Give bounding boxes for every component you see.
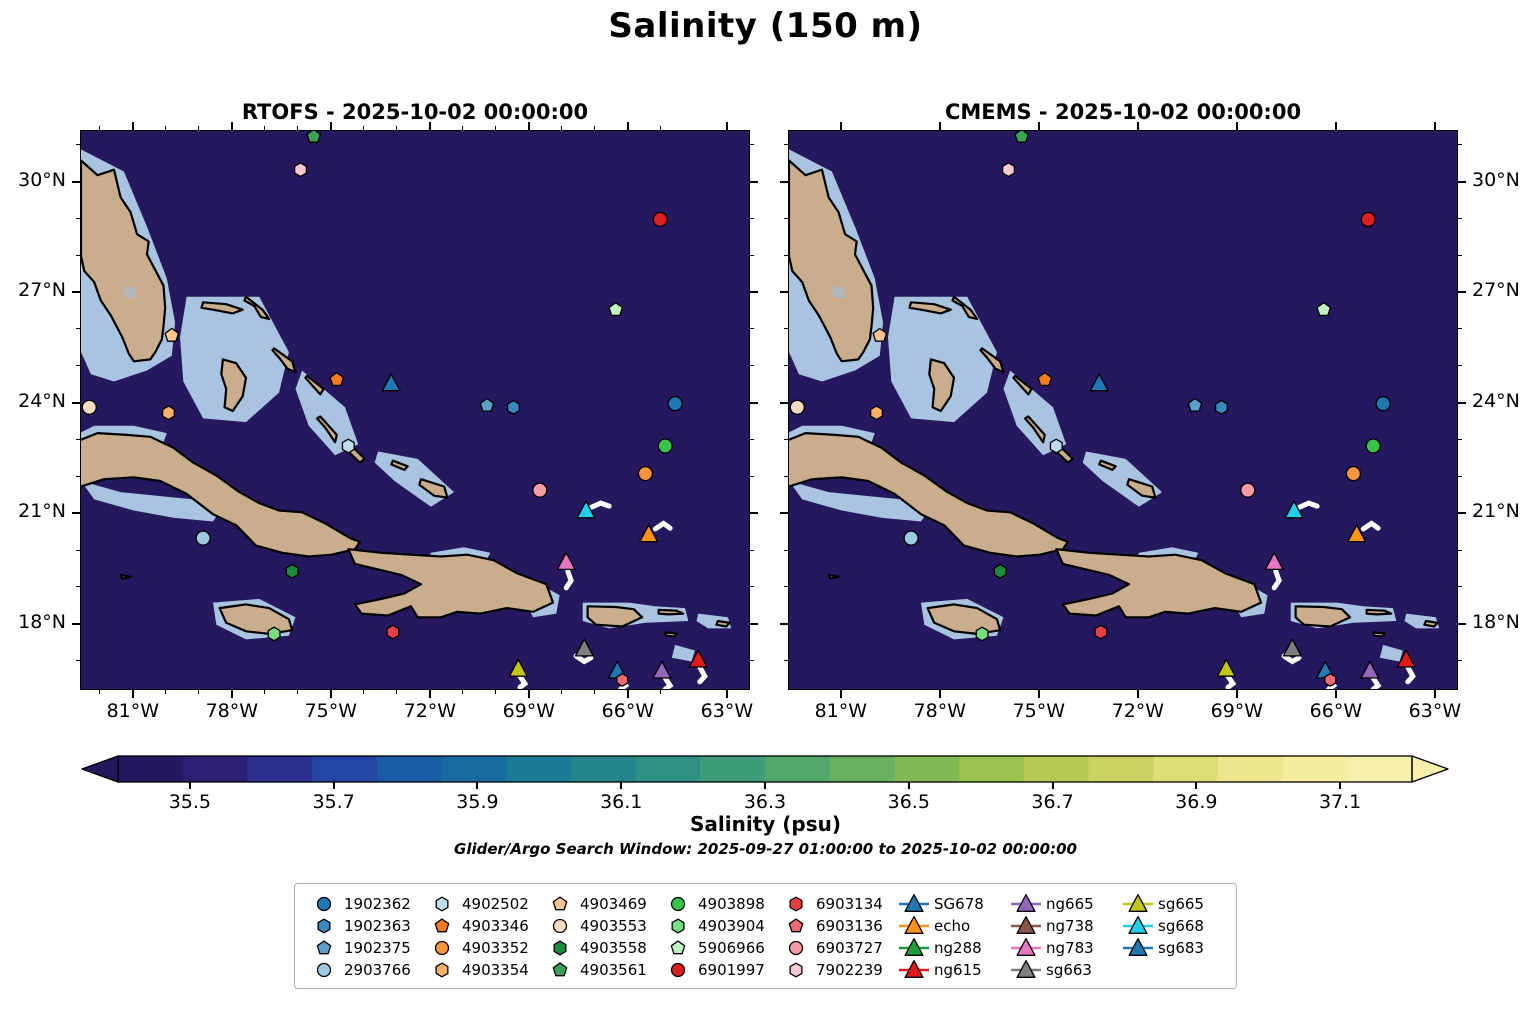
lon-tick-label-rtofs-2: 75°W <box>286 700 376 722</box>
lon-tick-label-cmems-0: 81°W <box>796 700 886 722</box>
lat-tick-label-left-1: 27°N <box>0 279 66 301</box>
legend-marker-hexagon-4903354 <box>425 959 459 981</box>
legend-entry-4903553[interactable]: 4903553 <box>543 915 647 937</box>
lon-minor-tick <box>396 126 397 130</box>
map-marker-4903354[interactable] <box>163 406 175 420</box>
lat-minor-tick <box>76 328 80 329</box>
lon-minor-tick <box>363 690 364 694</box>
lat-tickmark <box>1458 291 1466 293</box>
lat-minor-tick <box>750 328 754 329</box>
legend-marker-pentagon-4903346 <box>425 915 459 937</box>
lat-minor-tick <box>76 660 80 661</box>
lon-minor-tick <box>99 690 100 694</box>
lon-minor-tick <box>264 126 265 130</box>
lat-minor-tick <box>76 476 80 477</box>
legend-entry-sg668[interactable]: sg668 <box>1121 915 1204 937</box>
lon-tickmark <box>528 122 530 130</box>
lat-tick-label-left-3: 21°N <box>0 500 66 522</box>
lat-minor-tick <box>784 328 788 329</box>
lat-tick-label-left-2: 24°N <box>0 390 66 412</box>
lat-minor-tick <box>76 218 80 219</box>
lat-minor-tick <box>1458 328 1462 329</box>
legend-marker-circle-2903766 <box>307 959 341 981</box>
lon-tickmark <box>132 122 134 130</box>
lat-tick-label-right-3: 21°N <box>1472 500 1531 522</box>
legend-marker-triangle-ng783 <box>1009 937 1043 959</box>
lon-tickmark <box>1038 122 1040 130</box>
lon-tickmark <box>627 690 629 698</box>
lon-tickmark <box>330 690 332 698</box>
legend-label: ng738 <box>1043 917 1094 935</box>
colorbar-axis-label: Salinity (psu) <box>0 812 1531 836</box>
legend-label: sg663 <box>1043 961 1092 979</box>
lat-minor-tick <box>1458 144 1462 145</box>
lon-tickmark <box>429 690 431 698</box>
lon-tick-label-rtofs-3: 72°W <box>385 700 475 722</box>
lon-minor-tick <box>297 690 298 694</box>
legend-entry-4903354[interactable]: 4903354 <box>425 959 529 981</box>
legend-label: 4903904 <box>695 917 765 935</box>
lon-tick-label-cmems-5: 66°W <box>1291 700 1381 722</box>
legend-entry-6903727[interactable]: 6903727 <box>779 937 883 959</box>
map-marker-6901997[interactable] <box>653 212 667 226</box>
lat-minor-tick <box>750 144 754 145</box>
colorbar-tickmark <box>764 782 766 789</box>
colorbar-tickmark <box>908 782 910 789</box>
legend-marker-pentagon-1902375 <box>307 937 341 959</box>
legend-marker-triangle-ng738 <box>1009 915 1043 937</box>
legend-label: echo <box>931 917 970 935</box>
map-marker-4903561[interactable] <box>1015 131 1028 142</box>
lat-minor-tick <box>750 439 754 440</box>
lat-tickmark <box>750 181 758 183</box>
legend-label: ng615 <box>931 961 982 979</box>
lat-minor-tick <box>750 586 754 587</box>
legend-marker-triangle-sg665 <box>1121 893 1155 915</box>
legend-label: 1902362 <box>341 895 411 913</box>
colorbar-tickmark <box>1195 782 1197 789</box>
lon-tick-label-rtofs-5: 66°W <box>583 700 673 722</box>
lon-tickmark <box>1434 122 1436 130</box>
lat-tickmark <box>72 623 80 625</box>
lat-tickmark <box>780 623 788 625</box>
lon-tick-label-cmems-4: 69°W <box>1192 700 1282 722</box>
legend-marker-triangle-ng615 <box>897 959 931 981</box>
legend-label: 6901997 <box>695 961 765 979</box>
map-marker-7902239[interactable] <box>295 163 307 177</box>
colorbar-tick-label-5: 36.5 <box>859 791 959 813</box>
legend-label: 4903469 <box>577 895 647 913</box>
map-marker-1902363[interactable] <box>1216 401 1228 415</box>
lat-minor-tick <box>784 476 788 477</box>
legend-label: 4903558 <box>577 939 647 957</box>
lat-minor-tick <box>1458 660 1462 661</box>
lon-tick-label-rtofs-0: 81°W <box>88 700 178 722</box>
map-marker-4903352[interactable] <box>1346 467 1360 481</box>
legend-label: 6903136 <box>813 917 883 935</box>
lon-tickmark <box>726 690 728 698</box>
lon-tickmark <box>132 690 134 698</box>
lat-tickmark <box>1458 623 1466 625</box>
legend-label: 4903354 <box>459 961 529 979</box>
lon-tickmark <box>1335 122 1337 130</box>
map-marker-4903558[interactable] <box>286 565 298 579</box>
lon-tickmark <box>1137 122 1139 130</box>
legend-marker-pentagon-6903136 <box>779 915 813 937</box>
colorbar-tickmark <box>1052 782 1054 789</box>
lat-minor-tick <box>76 550 80 551</box>
lat-minor-tick <box>750 550 754 551</box>
legend-entry-ng783[interactable]: ng783 <box>1009 937 1094 959</box>
map-marker-7902239[interactable] <box>1003 163 1015 177</box>
legend-entry-1902375[interactable]: 1902375 <box>307 937 411 959</box>
lat-tickmark <box>1458 512 1466 514</box>
map-marker-6903727[interactable] <box>533 483 547 497</box>
legend-label: 1902363 <box>341 917 411 935</box>
page-title: Salinity (150 m) <box>0 6 1531 46</box>
map-marker-4903898[interactable] <box>658 439 672 453</box>
lon-tick-label-rtofs-1: 78°W <box>187 700 277 722</box>
lat-tick-label-right-4: 18°N <box>1472 611 1531 633</box>
map-marker-6903134[interactable] <box>387 625 399 639</box>
lat-minor-tick <box>750 255 754 256</box>
lon-tick-label-cmems-2: 75°W <box>994 700 1084 722</box>
lat-tick-label-right-2: 24°N <box>1472 390 1531 412</box>
legend-entry-4903904[interactable]: 4903904 <box>661 915 765 937</box>
lat-minor-tick <box>1458 550 1462 551</box>
legend-entry-7902239[interactable]: 7902239 <box>779 959 883 981</box>
lat-tickmark <box>750 512 758 514</box>
map-marker-6903136[interactable] <box>1325 674 1336 686</box>
lon-minor-tick <box>561 126 562 130</box>
lon-tickmark <box>1038 690 1040 698</box>
legend-label: 4903352 <box>459 939 529 957</box>
lon-minor-tick <box>198 126 199 130</box>
lon-minor-tick <box>561 690 562 694</box>
legend-entry-4903346[interactable]: 4903346 <box>425 915 529 937</box>
colorbar-tickmark <box>620 782 622 789</box>
legend-marker-circle-4903553 <box>543 915 577 937</box>
legend-label: 4902502 <box>459 895 529 913</box>
lon-minor-tick <box>462 126 463 130</box>
lon-tickmark <box>939 122 941 130</box>
legend-label: 4903346 <box>459 917 529 935</box>
legend-label: sg665 <box>1155 895 1204 913</box>
map-marker-4903354[interactable] <box>871 406 883 420</box>
lat-minor-tick <box>1458 439 1462 440</box>
map-marker-4903553[interactable] <box>82 400 96 414</box>
legend-entry-ng615[interactable]: ng615 <box>897 959 982 981</box>
map-marker-4902502[interactable] <box>1050 439 1062 453</box>
legend-entry-6901997[interactable]: 6901997 <box>661 959 765 981</box>
lon-tickmark <box>840 122 842 130</box>
legend-marker-hexagon-4902502 <box>425 893 459 915</box>
legend-marker-hexagon-1902363 <box>307 915 341 937</box>
lat-tickmark <box>72 291 80 293</box>
legend-label: 1902375 <box>341 939 411 957</box>
lat-tickmark <box>72 181 80 183</box>
lon-tick-label-rtofs-4: 69°W <box>484 700 574 722</box>
legend-entry-1902362[interactable]: 1902362 <box>307 893 411 915</box>
colorbar <box>78 753 1452 785</box>
lon-minor-tick <box>660 126 661 130</box>
legend-marker-circle-6901997 <box>661 959 695 981</box>
lat-minor-tick <box>784 586 788 587</box>
lon-tickmark <box>528 690 530 698</box>
legend-marker-pentagon-4903561 <box>543 959 577 981</box>
legend-label: sg683 <box>1155 939 1204 957</box>
lat-minor-tick <box>784 365 788 366</box>
legend: 1902362190236319023752903766490250249033… <box>294 883 1237 989</box>
lon-tickmark <box>627 122 629 130</box>
colorbar-tick-label-7: 36.9 <box>1146 791 1246 813</box>
colorbar-tick-label-6: 36.7 <box>1003 791 1103 813</box>
lat-tick-label-left-4: 18°N <box>0 611 66 633</box>
map-marker-6901997[interactable] <box>1361 212 1375 226</box>
lon-minor-tick <box>363 126 364 130</box>
lat-minor-tick <box>76 365 80 366</box>
colorbar-tick-label-0: 35.5 <box>140 791 240 813</box>
legend-entry-6903136[interactable]: 6903136 <box>779 915 883 937</box>
lon-tickmark <box>231 690 233 698</box>
lat-tickmark <box>750 623 758 625</box>
legend-entry-2903766[interactable]: 2903766 <box>307 959 411 981</box>
legend-entry-ng738[interactable]: ng738 <box>1009 915 1094 937</box>
legend-marker-triangle-ng288 <box>897 937 931 959</box>
search-window-label: Glider/Argo Search Window: 2025-09-27 01… <box>0 840 1531 858</box>
lat-minor-tick <box>750 660 754 661</box>
legend-entry-1902363[interactable]: 1902363 <box>307 915 411 937</box>
lat-minor-tick <box>1458 218 1462 219</box>
lon-tickmark <box>1434 690 1436 698</box>
panel-title-rtofs: RTOFS - 2025-10-02 00:00:00 <box>80 100 750 124</box>
legend-entry-echo[interactable]: echo <box>897 915 970 937</box>
lat-minor-tick <box>1458 586 1462 587</box>
lat-tickmark <box>1458 181 1466 183</box>
lat-minor-tick <box>784 439 788 440</box>
lon-minor-tick <box>495 126 496 130</box>
panel-title-cmems: CMEMS - 2025-10-02 00:00:00 <box>788 100 1458 124</box>
lon-minor-tick <box>264 690 265 694</box>
map-marker-6903136[interactable] <box>617 674 628 686</box>
legend-entry-SG678[interactable]: SG678 <box>897 893 984 915</box>
legend-marker-hexagon-6903134 <box>779 893 813 915</box>
lon-minor-tick <box>594 126 595 130</box>
lat-tick-label-right-1: 27°N <box>1472 279 1531 301</box>
legend-marker-pentagon-4903469 <box>543 893 577 915</box>
legend-label: 2903766 <box>341 961 411 979</box>
legend-entry-4903352[interactable]: 4903352 <box>425 937 529 959</box>
lat-minor-tick <box>784 255 788 256</box>
lat-minor-tick <box>784 660 788 661</box>
legend-label: 7902239 <box>813 961 883 979</box>
legend-label: 4903561 <box>577 961 647 979</box>
lon-tickmark <box>1335 690 1337 698</box>
map-marker-4902502[interactable] <box>342 439 354 453</box>
lon-tick-label-cmems-1: 78°W <box>895 700 985 722</box>
legend-entry-ng665[interactable]: ng665 <box>1009 893 1094 915</box>
lon-tickmark <box>330 122 332 130</box>
lon-minor-tick <box>198 690 199 694</box>
lat-tickmark <box>1458 402 1466 404</box>
map-marker-4903558[interactable] <box>994 565 1006 579</box>
lat-tickmark <box>780 402 788 404</box>
lon-tick-label-rtofs-6: 63°W <box>682 700 772 722</box>
lon-minor-tick <box>396 690 397 694</box>
lon-tickmark <box>840 690 842 698</box>
map-marker-4903904[interactable] <box>976 627 988 641</box>
legend-marker-triangle-echo <box>897 915 931 937</box>
legend-marker-circle-1902362 <box>307 893 341 915</box>
map-marker-2903766[interactable] <box>196 531 210 545</box>
colorbar-tick-label-2: 35.9 <box>427 791 527 813</box>
colorbar-tickmark <box>189 782 191 789</box>
legend-label: ng288 <box>931 939 982 957</box>
lon-minor-tick <box>462 690 463 694</box>
legend-label: 5906966 <box>695 939 765 957</box>
map-marker-1902362[interactable] <box>668 397 682 411</box>
legend-marker-pentagon-5906966 <box>661 937 695 959</box>
lat-minor-tick <box>784 218 788 219</box>
map-marker-2903766[interactable] <box>904 531 918 545</box>
legend-marker-triangle-sg663 <box>1009 959 1043 981</box>
lat-tick-label-right-0: 30°N <box>1472 169 1531 191</box>
lat-minor-tick <box>784 550 788 551</box>
legend-label: 4903553 <box>577 917 647 935</box>
lon-minor-tick <box>165 690 166 694</box>
lon-tick-label-cmems-3: 72°W <box>1093 700 1183 722</box>
lat-minor-tick <box>76 586 80 587</box>
legend-entry-4903558[interactable]: 4903558 <box>543 937 647 959</box>
legend-label: ng783 <box>1043 939 1094 957</box>
legend-entry-4902502[interactable]: 4902502 <box>425 893 529 915</box>
colorbar-tickmark <box>333 782 335 789</box>
lat-minor-tick <box>76 144 80 145</box>
lat-tickmark <box>780 291 788 293</box>
colorbar-tick-label-4: 36.3 <box>715 791 815 813</box>
map-marker-4903561[interactable] <box>307 131 320 142</box>
legend-label: sg668 <box>1155 917 1204 935</box>
map-marker-4903352[interactable] <box>638 467 652 481</box>
lon-tickmark <box>429 122 431 130</box>
lon-tickmark <box>726 122 728 130</box>
lat-tickmark <box>780 181 788 183</box>
legend-entry-sg683[interactable]: sg683 <box>1121 937 1204 959</box>
lon-tick-label-cmems-6: 63°W <box>1390 700 1480 722</box>
lon-minor-tick <box>495 690 496 694</box>
legend-entry-5906966[interactable]: 5906966 <box>661 937 765 959</box>
map-marker-4903898[interactable] <box>1366 439 1380 453</box>
lat-minor-tick <box>76 439 80 440</box>
lat-minor-tick <box>750 218 754 219</box>
colorbar-tick-label-1: 35.7 <box>284 791 384 813</box>
legend-marker-triangle-ng665 <box>1009 893 1043 915</box>
legend-marker-circle-6903727 <box>779 937 813 959</box>
lat-minor-tick <box>1458 476 1462 477</box>
legend-entry-4903469[interactable]: 4903469 <box>543 893 647 915</box>
legend-entry-sg665[interactable]: sg665 <box>1121 893 1204 915</box>
lat-minor-tick <box>750 365 754 366</box>
map-panel-rtofs[interactable] <box>80 130 750 690</box>
lat-minor-tick <box>750 476 754 477</box>
lat-tick-label-left-0: 30°N <box>0 169 66 191</box>
lon-minor-tick <box>594 690 595 694</box>
legend-marker-hexagon-4903904 <box>661 915 695 937</box>
legend-marker-circle-4903898 <box>661 893 695 915</box>
colorbar-tick-label-8: 37.1 <box>1290 791 1390 813</box>
map-marker-4903553[interactable] <box>790 400 804 414</box>
lat-tickmark <box>72 402 80 404</box>
lat-minor-tick <box>76 255 80 256</box>
lon-minor-tick <box>99 126 100 130</box>
lat-minor-tick <box>1458 365 1462 366</box>
lat-minor-tick <box>784 144 788 145</box>
legend-marker-circle-4903352 <box>425 937 459 959</box>
lon-minor-tick <box>297 126 298 130</box>
colorbar-tickmark <box>1339 782 1341 789</box>
legend-entry-6903134[interactable]: 6903134 <box>779 893 883 915</box>
lon-tickmark <box>1137 690 1139 698</box>
colorbar-tickmark <box>476 782 478 789</box>
lat-tickmark <box>72 512 80 514</box>
map-marker-6903134[interactable] <box>1095 625 1107 639</box>
legend-entry-ng288[interactable]: ng288 <box>897 937 982 959</box>
legend-label: 6903134 <box>813 895 883 913</box>
legend-entry-4903898[interactable]: 4903898 <box>661 893 765 915</box>
legend-marker-hexagon-4903558 <box>543 937 577 959</box>
map-marker-6903727[interactable] <box>1241 483 1255 497</box>
legend-entry-4903561[interactable]: 4903561 <box>543 959 647 981</box>
legend-marker-triangle-SG678 <box>897 893 931 915</box>
legend-marker-triangle-sg668 <box>1121 915 1155 937</box>
lat-tickmark <box>750 402 758 404</box>
lon-tickmark <box>939 690 941 698</box>
legend-label: 4903898 <box>695 895 765 913</box>
lon-minor-tick <box>660 690 661 694</box>
lon-tickmark <box>1236 122 1238 130</box>
legend-marker-triangle-sg683 <box>1121 937 1155 959</box>
lon-tickmark <box>231 122 233 130</box>
legend-entry-sg663[interactable]: sg663 <box>1009 959 1092 981</box>
lon-tickmark <box>1236 690 1238 698</box>
legend-label: SG678 <box>931 895 984 913</box>
map-marker-1902362[interactable] <box>1376 397 1390 411</box>
map-panel-cmems[interactable] <box>788 130 1458 690</box>
legend-marker-hexagon-7902239 <box>779 959 813 981</box>
legend-label: 6903727 <box>813 939 883 957</box>
lon-minor-tick <box>165 126 166 130</box>
lat-tickmark <box>750 291 758 293</box>
map-marker-1902363[interactable] <box>508 401 520 415</box>
lat-minor-tick <box>1458 255 1462 256</box>
legend-label: ng665 <box>1043 895 1094 913</box>
lat-tickmark <box>780 512 788 514</box>
map-marker-4903904[interactable] <box>268 627 280 641</box>
colorbar-tick-label-3: 36.1 <box>571 791 671 813</box>
